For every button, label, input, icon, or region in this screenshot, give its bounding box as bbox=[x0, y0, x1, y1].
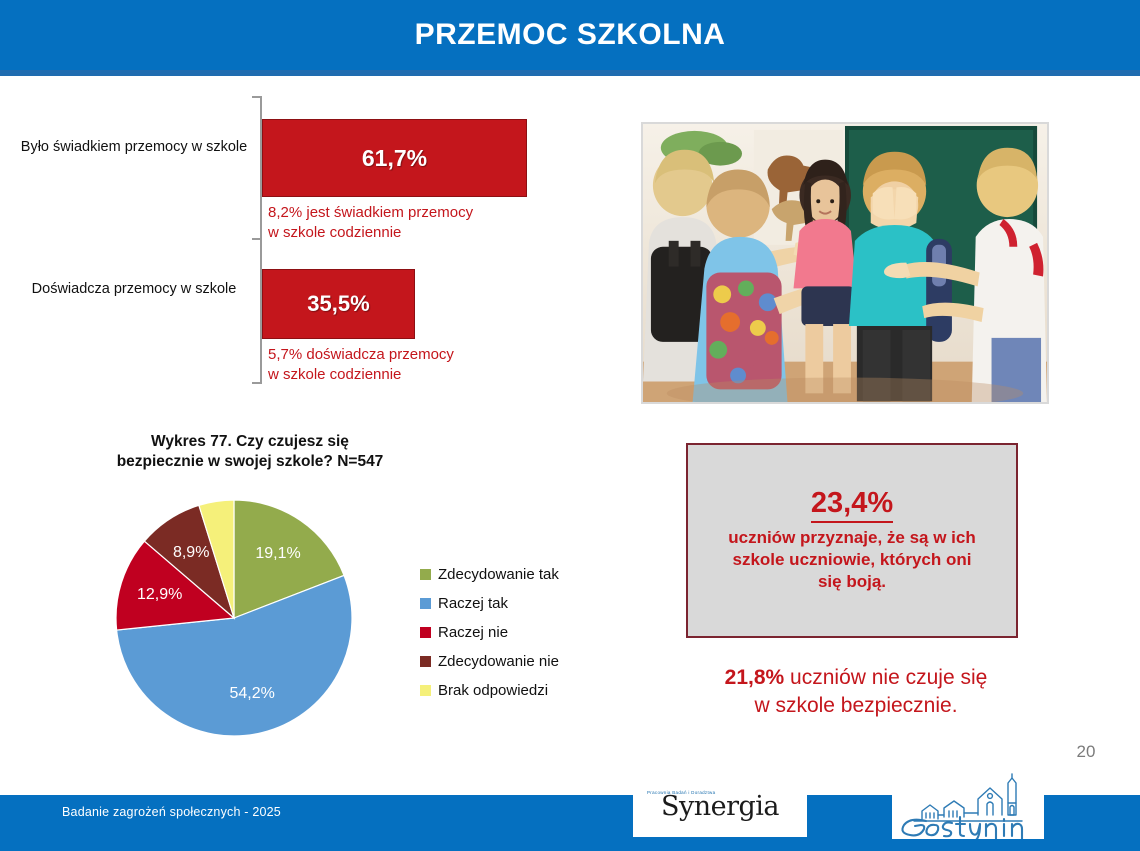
bullying-photo-illustration bbox=[643, 124, 1047, 403]
pie-chart-graphic: 19,1%54,2%12,9%8,9%4,8% bbox=[108, 494, 408, 744]
callout-text-line-3: się boją. bbox=[728, 571, 976, 593]
footer-text: Badanie zagrożeń społecznych - 2025 bbox=[62, 805, 281, 819]
bar-note-0: 8,2% jest świadkiem przemocy w szkole co… bbox=[268, 203, 568, 242]
legend-item-2[interactable]: Raczej nie bbox=[420, 618, 559, 647]
legend-item-3[interactable]: Zdecydowanie nie bbox=[420, 647, 559, 676]
pie-chart-title-line-2: bezpiecznie w swojej szkole? N=547 bbox=[70, 452, 430, 472]
legend-swatch-icon-4 bbox=[420, 685, 431, 696]
callout-box: 23,4% uczniów przyznaje, że są w ich szk… bbox=[686, 443, 1018, 638]
bar-value-label-1: 35,5% bbox=[307, 291, 369, 317]
bar-category-label-1: Doświadcza przemocy w szkole bbox=[16, 280, 252, 299]
gostynin-logo-graphic bbox=[892, 773, 1044, 839]
bar-rect-0: 61,7% bbox=[262, 119, 527, 197]
bar-value-label-0: 61,7% bbox=[362, 145, 427, 172]
bar-rect-1: 35,5% bbox=[262, 269, 415, 339]
axis-tick-top bbox=[252, 96, 261, 98]
gostynin-logo bbox=[892, 773, 1044, 839]
pie-value-label-2: 12,9% bbox=[137, 586, 182, 603]
callout-text-line-1: uczniów przyznaje, że są w ich bbox=[728, 527, 976, 549]
sub-statistic-rest: uczniów nie czuje się bbox=[784, 666, 987, 689]
page-number: 20 bbox=[1066, 742, 1106, 762]
pie-value-label-1: 54,2% bbox=[230, 685, 275, 702]
bar-note-0-line-2: w szkole codziennie bbox=[268, 223, 568, 243]
legend-label-3: Zdecydowanie nie bbox=[438, 653, 559, 670]
legend-item-1[interactable]: Raczej tak bbox=[420, 589, 559, 618]
legend-label-4: Brak odpowiedzi bbox=[438, 682, 548, 699]
sub-statistic: 21,8% uczniów nie czuje się w szkole bez… bbox=[660, 664, 1052, 721]
bullying-photo bbox=[641, 122, 1049, 404]
legend-swatch-icon-1 bbox=[420, 598, 431, 609]
bar-category-label-0: Było świadkiem przemocy w szkole bbox=[16, 138, 252, 157]
callout-percent: 23,4% bbox=[811, 488, 893, 523]
legend-item-0[interactable]: Zdecydowanie tak bbox=[420, 560, 559, 589]
bar-note-1-line-2: w szkole codziennie bbox=[268, 365, 568, 385]
pie-chart-title: Wykres 77. Czy czujesz się bezpiecznie w… bbox=[70, 432, 430, 472]
pie-chart-title-line-1: Wykres 77. Czy czujesz się bbox=[70, 432, 430, 452]
bar-chart: Było świadkiem przemocy w szkole 61,7% 8… bbox=[0, 90, 600, 410]
bar-note-1-line-1: 5,7% doświadcza przemocy bbox=[268, 345, 568, 365]
callout-text-line-2: szkole uczniowie, których oni bbox=[728, 549, 976, 571]
sub-statistic-percent: 21,8% bbox=[725, 666, 785, 689]
legend-swatch-icon-0 bbox=[420, 569, 431, 580]
legend-label-2: Raczej nie bbox=[438, 624, 508, 641]
bar-note-0-line-1: 8,2% jest świadkiem przemocy bbox=[268, 203, 568, 223]
pie-chart-block: Wykres 77. Czy czujesz się bezpiecznie w… bbox=[60, 432, 620, 762]
callout-text: uczniów przyznaje, że są w ich szkole uc… bbox=[728, 527, 976, 592]
legend-label-1: Raczej tak bbox=[438, 595, 508, 612]
legend-swatch-icon-3 bbox=[420, 656, 431, 667]
slide-root: PRZEMOC SZKOLNA Było świadkiem przemocy … bbox=[0, 0, 1140, 851]
axis-tick-bottom bbox=[252, 382, 261, 384]
legend-label-0: Zdecydowanie tak bbox=[438, 566, 559, 583]
pie-value-label-3: 8,9% bbox=[173, 544, 209, 561]
legend-swatch-icon-2 bbox=[420, 627, 431, 638]
header-underline-stripe bbox=[0, 70, 1140, 76]
pie-chart-legend: Zdecydowanie takRaczej takRaczej nieZdec… bbox=[420, 560, 559, 705]
pie-value-label-0: 19,1% bbox=[255, 545, 300, 562]
sub-statistic-line-1: 21,8% uczniów nie czuje się bbox=[660, 664, 1052, 692]
sub-statistic-line-2: w szkole bezpiecznie. bbox=[660, 692, 1052, 720]
axis-tick-middle bbox=[252, 238, 261, 240]
page-title: PRZEMOC SZKOLNA bbox=[0, 0, 1140, 70]
synergia-wordmark: Synergia bbox=[661, 791, 779, 822]
bar-note-1: 5,7% doświadcza przemocy w szkole codzie… bbox=[268, 345, 568, 384]
legend-item-4[interactable]: Brak odpowiedzi bbox=[420, 676, 559, 705]
synergia-logo: Pracownia Badań i Doradztwa Synergia bbox=[633, 775, 807, 837]
